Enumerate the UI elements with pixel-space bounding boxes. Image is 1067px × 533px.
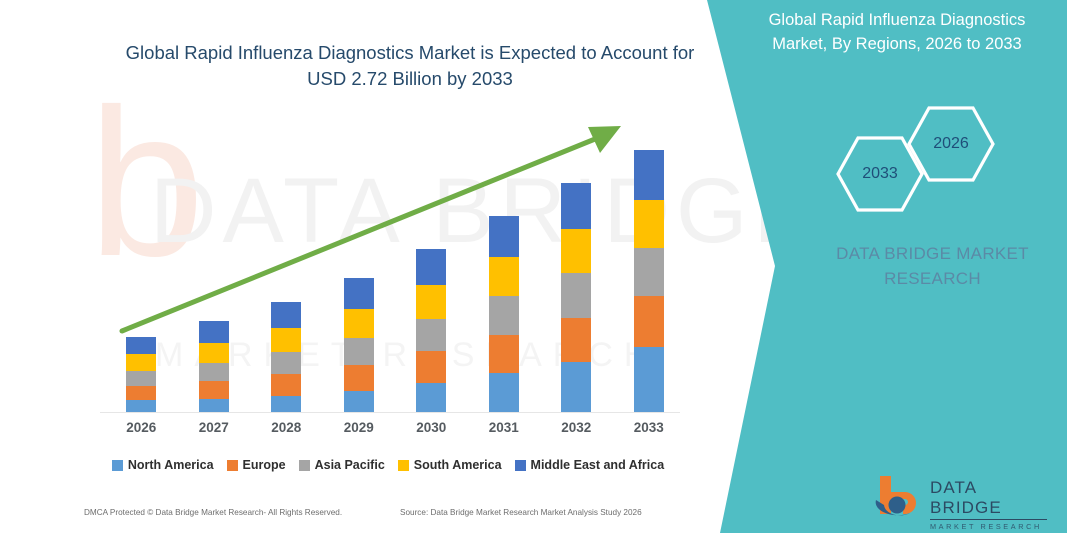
legend-label: Asia Pacific <box>315 458 385 472</box>
legend-item[interactable]: Asia Pacific <box>299 458 385 472</box>
legend-item[interactable]: Europe <box>227 458 286 472</box>
bar-segment <box>561 318 591 362</box>
legend-swatch <box>112 460 123 471</box>
legend-label: North America <box>128 458 214 472</box>
bar-segment <box>199 321 229 343</box>
bar-segment <box>634 296 664 346</box>
bar-segment <box>126 400 156 412</box>
hexagon-2026-label: 2026 <box>933 135 969 153</box>
legend-label: South America <box>414 458 502 472</box>
bar-segment <box>561 273 591 317</box>
hexagon-2033-label: 2033 <box>862 165 898 183</box>
logo-text-block: DATA BRIDGE MARKET RESEARCH <box>930 478 1047 531</box>
logo-main-text: DATA BRIDGE <box>930 478 1047 520</box>
bar-segment <box>271 396 301 412</box>
x-axis-label: 2031 <box>474 420 534 435</box>
footer-copyright: DMCA Protected © Data Bridge Market Rese… <box>84 508 342 517</box>
bar-segment <box>489 257 519 296</box>
bar-segment <box>199 381 229 398</box>
bar-column <box>416 249 446 412</box>
legend-swatch <box>515 460 526 471</box>
x-axis-label: 2028 <box>256 420 316 435</box>
bar-segment <box>561 362 591 412</box>
bar-segment <box>344 391 374 412</box>
bar-segment <box>634 150 664 200</box>
bar-segment <box>344 338 374 365</box>
bar-segment <box>634 200 664 248</box>
legend-item[interactable]: South America <box>398 458 502 472</box>
bar-segment <box>634 248 664 296</box>
bar-column <box>126 337 156 412</box>
bar-segment <box>344 365 374 391</box>
x-axis-label: 2026 <box>111 420 171 435</box>
bar-column <box>271 302 301 412</box>
footer: DMCA Protected © Data Bridge Market Rese… <box>0 505 700 527</box>
bar-segment <box>271 328 301 352</box>
bar-segment <box>416 319 446 352</box>
bar-segment <box>199 343 229 363</box>
bar-segment <box>271 374 301 395</box>
bar-segment <box>416 383 446 412</box>
x-axis-label: 2029 <box>329 420 389 435</box>
bar-column <box>634 150 664 412</box>
bar-segment <box>271 352 301 374</box>
legend-swatch <box>398 460 409 471</box>
legend-item[interactable]: Middle East and Africa <box>515 458 665 472</box>
bar-segment <box>489 373 519 412</box>
bar-segment <box>561 183 591 229</box>
bar-segment <box>489 216 519 257</box>
infographic-canvas: b DATA BRIDGE MARKET RESEARCH Global Rap… <box>0 0 1067 533</box>
databridge-b-mark-icon <box>872 472 928 518</box>
legend-label: Middle East and Africa <box>531 458 665 472</box>
bar-segment <box>489 296 519 335</box>
x-axis-labels: 20262027202820292030203120322033 <box>100 420 680 444</box>
panel-title: Global Rapid Influenza Diagnostics Marke… <box>742 8 1052 56</box>
bar-segment <box>126 354 156 370</box>
bar-segment <box>199 363 229 381</box>
chart-area: Global Rapid Influenza Diagnostics Marke… <box>0 0 700 533</box>
x-axis-label: 2032 <box>546 420 606 435</box>
bar-segment <box>126 371 156 386</box>
bar-segment <box>416 351 446 383</box>
bar-segment <box>634 347 664 413</box>
bar-segment <box>271 302 301 328</box>
bar-column <box>199 321 229 412</box>
bar-segment <box>489 335 519 374</box>
bar-segment <box>344 309 374 338</box>
bar-segment <box>416 285 446 319</box>
bar-column <box>344 278 374 412</box>
x-axis-line <box>100 412 680 413</box>
bar-segment <box>199 399 229 412</box>
bar-column <box>489 216 519 412</box>
legend-swatch <box>299 460 310 471</box>
x-axis-label: 2030 <box>401 420 461 435</box>
logo-sub-text: MARKET RESEARCH <box>930 522 1047 531</box>
bar-segment <box>561 229 591 273</box>
brand-logo: DATA BRIDGE MARKET RESEARCH <box>872 472 1047 520</box>
panel-brand-text: DATA BRIDGE MARKET RESEARCH <box>800 241 1065 291</box>
chart-legend: North AmericaEuropeAsia PacificSouth Ame… <box>98 455 678 475</box>
x-axis-label: 2027 <box>184 420 244 435</box>
bars-plot <box>100 120 680 412</box>
x-axis-label: 2033 <box>619 420 679 435</box>
bar-column <box>561 183 591 412</box>
bar-segment <box>344 278 374 309</box>
footer-source: Source: Data Bridge Market Research Mark… <box>400 508 642 517</box>
bar-segment <box>126 386 156 400</box>
hexagon-2033: 2033 <box>834 134 926 214</box>
legend-swatch <box>227 460 238 471</box>
legend-label: Europe <box>243 458 286 472</box>
bar-segment <box>126 337 156 354</box>
bar-segment <box>416 249 446 285</box>
legend-item[interactable]: North America <box>112 458 214 472</box>
